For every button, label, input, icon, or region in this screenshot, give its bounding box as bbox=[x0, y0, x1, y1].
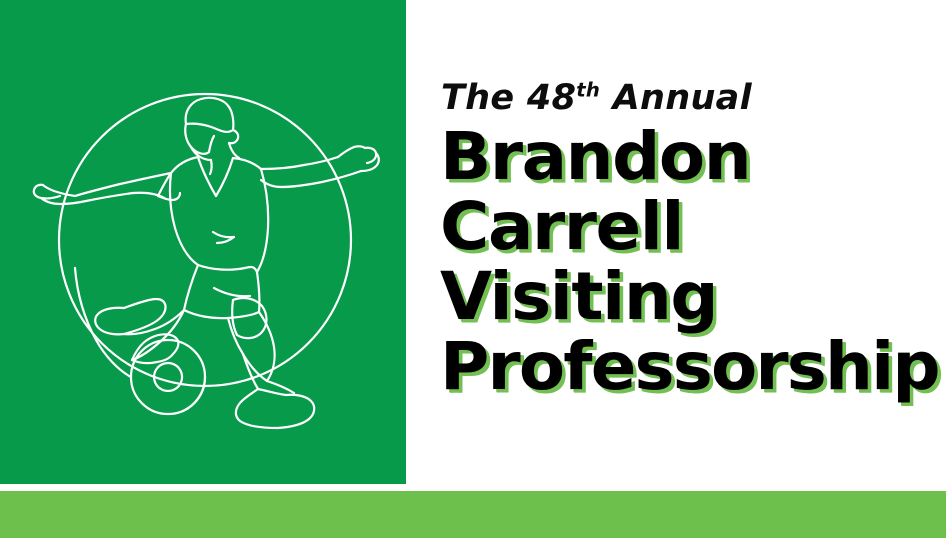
illustration-panel bbox=[0, 0, 406, 484]
eyebrow-suffix: Annual bbox=[600, 78, 752, 118]
bottom-accent-bar bbox=[0, 491, 946, 538]
eyebrow-number: 48 bbox=[527, 78, 576, 118]
soccer-player-line-art-icon bbox=[0, 0, 406, 484]
eyebrow-text: The 48th Annual bbox=[441, 78, 752, 118]
headline-line-3: Visiting bbox=[440, 262, 946, 332]
eyebrow-ordinal-suffix: th bbox=[576, 78, 600, 101]
visiting-professorship-banner: The 48th Annual Brandon Carrell Visiting… bbox=[0, 0, 946, 538]
eyebrow-prefix: The bbox=[441, 78, 527, 118]
headline-line-2: Carrell bbox=[440, 192, 946, 262]
headline-text-block: The 48th Annual Brandon Carrell Visiting… bbox=[440, 0, 940, 484]
headline-line-4: Professorship bbox=[440, 332, 946, 402]
headline: Brandon Carrell Visiting Professorship bbox=[440, 122, 946, 402]
headline-line-1: Brandon bbox=[440, 122, 946, 192]
